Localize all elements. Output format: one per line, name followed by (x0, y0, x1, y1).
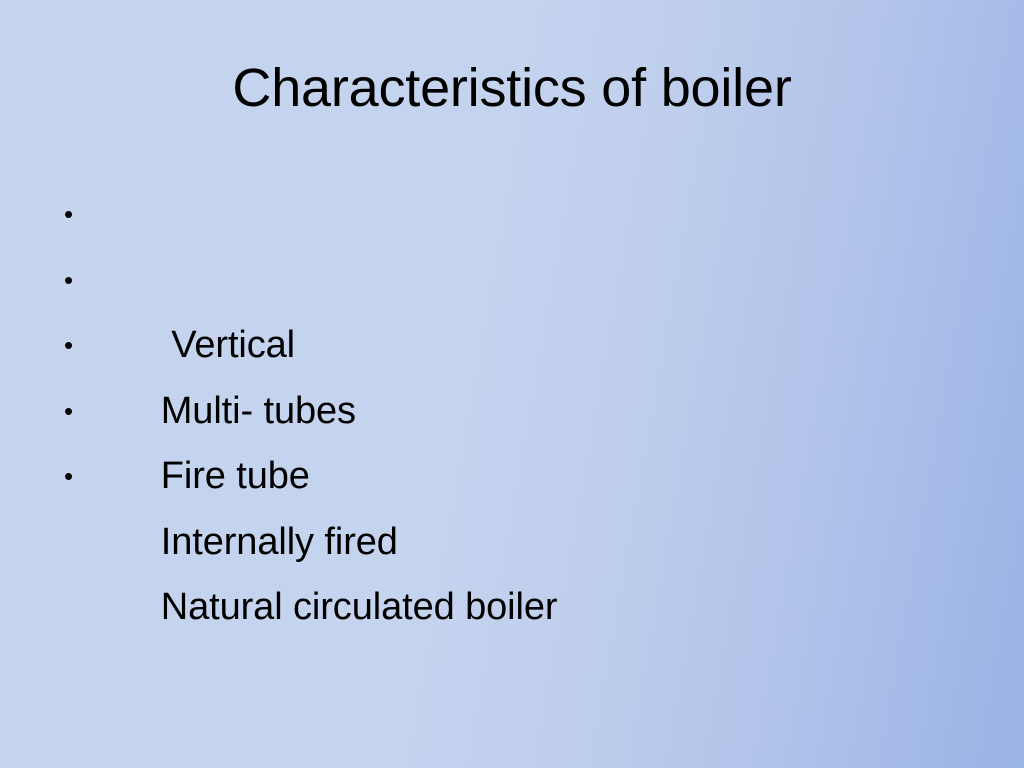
presentation-slide: Characteristics of boiler • Vertical • M… (0, 0, 1024, 768)
bullet-point-icon: • (64, 444, 82, 510)
list-item: • Multi- tubes (60, 248, 920, 314)
list-item: • Internally fired (60, 379, 920, 445)
list-item-label: Natural circulated boiler (161, 575, 558, 641)
bullet-point-icon: • (64, 248, 82, 314)
bullet-point-icon: • (64, 182, 82, 248)
bullet-list: • Vertical • Multi- tubes • Fire tube • … (60, 182, 920, 510)
bullet-point-icon: • (64, 379, 82, 445)
list-item-label: Internally fired (161, 510, 398, 576)
list-item: • Fire tube (60, 313, 920, 379)
list-item: • Natural circulated boiler (60, 444, 920, 510)
list-item: • Vertical (60, 182, 920, 248)
bullet-point-icon: • (64, 313, 82, 379)
page-title: Characteristics of boiler (0, 58, 1024, 118)
